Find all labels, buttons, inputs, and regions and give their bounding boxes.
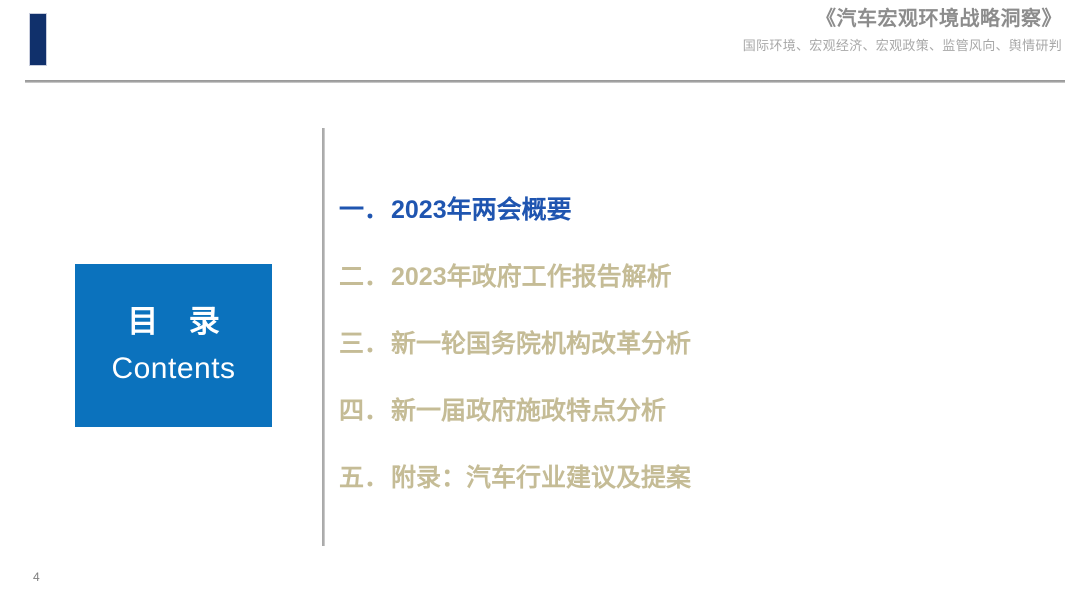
toc-item-3-label: 新一轮国务院机构改革分析 — [391, 324, 691, 360]
header-divider-rule — [25, 80, 1065, 83]
toc-item-4[interactable]: 四． 新一届政府施政特点分析 — [339, 391, 939, 458]
header-accent-bar — [30, 14, 46, 65]
toc-item-3[interactable]: 三． 新一轮国务院机构改革分析 — [339, 324, 939, 391]
toc-item-3-index: 三． — [339, 324, 391, 360]
toc-item-1-index: 一． — [339, 190, 391, 226]
contents-title-en: Contents — [111, 348, 235, 390]
page-title: 《汽车宏观环境战略洞察》 — [502, 6, 1062, 32]
toc-item-5[interactable]: 五． 附录：汽车行业建议及提案 — [339, 458, 939, 525]
toc-list: 一． 2023年两会概要 二． 2023年政府工作报告解析 三． 新一轮国务院机… — [339, 190, 939, 525]
page-number: 4 — [33, 570, 40, 584]
toc-vertical-divider — [322, 128, 325, 546]
toc-item-2-index: 二． — [339, 257, 391, 293]
contents-title-cn: 目 录 — [116, 302, 231, 342]
page-subtitle: 国际环境、宏观经济、宏观政策、监管风向、舆情研判 — [502, 35, 1062, 57]
toc-item-5-index: 五． — [339, 458, 391, 494]
toc-item-1-label: 2023年两会概要 — [391, 190, 572, 226]
toc-item-4-label: 新一届政府施政特点分析 — [391, 391, 666, 427]
contents-badge: 目 录 Contents — [75, 264, 272, 427]
toc-item-4-index: 四． — [339, 391, 391, 427]
toc-item-2-label: 2023年政府工作报告解析 — [391, 257, 672, 293]
slide-canvas: 《汽车宏观环境战略洞察》 国际环境、宏观经济、宏观政策、监管风向、舆情研判 目 … — [0, 0, 1080, 608]
toc-item-1[interactable]: 一． 2023年两会概要 — [339, 190, 939, 257]
header-text-block: 《汽车宏观环境战略洞察》 国际环境、宏观经济、宏观政策、监管风向、舆情研判 — [502, 6, 1062, 57]
toc-item-5-label: 附录：汽车行业建议及提案 — [391, 458, 691, 494]
toc-item-2[interactable]: 二． 2023年政府工作报告解析 — [339, 257, 939, 324]
